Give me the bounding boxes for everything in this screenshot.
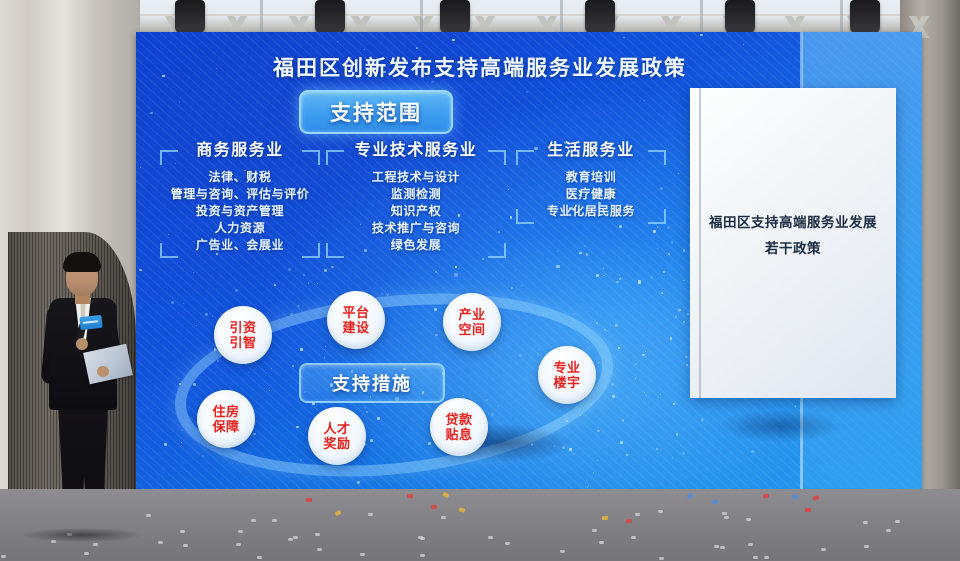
confetti-piece: [763, 494, 770, 499]
particle: [676, 433, 679, 436]
measure-bubble-line1: 平台: [342, 305, 369, 320]
particle: [183, 303, 184, 304]
particle: [685, 356, 687, 358]
floor-speck: [821, 548, 826, 551]
particle: [671, 241, 673, 243]
floor-speck: [560, 550, 565, 553]
scope-column-2: 专业技术服务业工程技术与设计监测检测知识产权技术推广与咨询绿色发展: [326, 136, 506, 254]
measure-bubble-1: 引资引智: [214, 306, 272, 364]
particle: [675, 316, 677, 318]
particle: [657, 226, 658, 227]
particle: [622, 419, 624, 421]
floor-speck: [592, 529, 597, 532]
floor-speck: [895, 520, 900, 523]
particle: [656, 448, 658, 450]
confetti-piece: [813, 495, 820, 501]
scope-item: 工程技术与设计: [326, 169, 506, 186]
stage-light-1: [175, 0, 205, 34]
particle: [642, 354, 645, 357]
particle: [751, 450, 754, 453]
particle: [678, 309, 681, 312]
scope-item: 知识产权: [326, 203, 506, 220]
support-scope-pill: 支持范围: [299, 90, 453, 134]
particle: [657, 248, 658, 249]
particle: [274, 284, 276, 286]
particle: [572, 453, 574, 455]
policy-document-title-line1: 福田区支持高端服务业发展: [704, 210, 882, 236]
particle: [416, 47, 418, 49]
scope-column-items: 法律、财税管理与咨询、评估与评价投资与资产管理人力资源广告业、会展业: [160, 169, 320, 254]
floor-speck: [84, 552, 89, 555]
particle: [521, 285, 522, 286]
particle: [660, 394, 661, 395]
particle: [644, 100, 646, 102]
measure-bubble-line2: 保障: [212, 419, 239, 434]
floor-confetti: [0, 489, 960, 561]
floor-speck: [488, 536, 493, 539]
floor-speck: [315, 533, 320, 536]
support-scope-label: 支持范围: [330, 97, 422, 127]
scope-column-title: 商务服务业: [160, 136, 320, 160]
particle: [587, 486, 588, 487]
scope-column-title: 生活服务业: [516, 136, 666, 160]
particle: [623, 37, 625, 39]
floor-speck: [146, 514, 151, 517]
stage-light-3: [440, 0, 470, 34]
particle: [700, 34, 703, 37]
measure-bubble-line2: 空间: [458, 322, 485, 337]
floor-speck: [360, 553, 365, 556]
particle: [597, 460, 598, 461]
support-measures-label: 支持措施: [332, 370, 412, 396]
particle: [638, 280, 641, 283]
measure-bubble-line2: 引智: [229, 335, 256, 350]
particle: [619, 278, 621, 280]
particle: [661, 292, 663, 294]
measure-bubble-line1: 住房: [212, 404, 239, 419]
confetti-piece: [792, 494, 799, 500]
measure-bubble-2: 平台建设: [327, 291, 385, 349]
particle: [604, 329, 607, 332]
particle: [364, 49, 365, 50]
scope-column-title: 专业技术服务业: [326, 136, 506, 160]
particle: [202, 455, 204, 457]
floor-speck: [158, 541, 163, 544]
floor-speck: [753, 556, 758, 559]
particle: [678, 173, 679, 174]
particle: [667, 226, 670, 229]
particle: [615, 324, 617, 326]
particle: [603, 275, 605, 277]
confetti-piece: [687, 492, 694, 499]
particle: [235, 289, 238, 292]
measure-bubble-line2: 贴息: [445, 427, 472, 442]
floor-speck: [659, 557, 664, 560]
particle: [680, 445, 681, 446]
particle: [620, 441, 623, 444]
particle: [618, 347, 620, 349]
confetti-piece: [626, 518, 632, 523]
measure-bubble-6: 人才奖励: [308, 407, 366, 465]
floor-speck: [441, 516, 446, 519]
particle: [212, 316, 213, 317]
floor-speck: [748, 543, 753, 546]
scope-item: 监测检测: [326, 186, 506, 203]
particle: [672, 457, 674, 459]
particle: [683, 249, 686, 252]
floor-speck: [288, 538, 293, 541]
floor-speck: [272, 519, 277, 522]
particle: [619, 274, 620, 275]
particle: [795, 406, 796, 407]
floor-speck: [183, 544, 188, 547]
particle: [668, 253, 670, 255]
measure-bubble-line2: 奖励: [323, 436, 350, 451]
measure-bubble-line1: 贷款: [445, 412, 472, 427]
scope-column-items: 工程技术与设计监测检测知识产权技术推广与咨询绿色发展: [326, 169, 506, 254]
confetti-piece: [459, 507, 466, 513]
particle: [686, 364, 688, 366]
support-measures-label-box: 支持措施: [299, 363, 445, 403]
floor-speck: [93, 543, 98, 546]
policy-document-board: 福田区支持高端服务业发展 若干政策: [690, 88, 896, 398]
floor-speck: [251, 519, 256, 522]
particle: [573, 313, 575, 315]
particle: [597, 430, 600, 433]
floor-speck: [236, 543, 241, 546]
scope-column-items: 教育培训医疗健康专业化居民服务: [516, 169, 666, 220]
scope-item: 绿色发展: [326, 237, 506, 254]
particle: [511, 287, 513, 289]
measure-bubble-7: 住房保障: [197, 390, 255, 448]
particle: [308, 282, 309, 283]
particle: [635, 378, 637, 380]
document-spine: [699, 88, 701, 398]
particle: [596, 322, 598, 324]
floor-speck: [764, 556, 769, 559]
scope-item: 管理与咨询、评估与评价: [160, 186, 320, 203]
microphone-flag: [79, 315, 102, 330]
floor-speck: [722, 512, 727, 515]
measure-bubble-line1: 产业: [458, 307, 485, 322]
floor-speck: [293, 536, 298, 539]
measure-bubble-line2: 建设: [342, 320, 369, 335]
particle: [526, 91, 528, 93]
particle: [161, 415, 162, 416]
particle: [179, 101, 181, 103]
scope-column-3: 生活服务业教育培训医疗健康专业化居民服务: [516, 136, 666, 220]
particle: [701, 418, 704, 421]
speaker-hair: [63, 252, 101, 272]
particle: [670, 337, 672, 339]
measure-bubble-4: 专业楼宇: [538, 346, 596, 404]
particle: [626, 454, 628, 456]
particle: [569, 448, 572, 451]
particle: [611, 383, 614, 386]
particle: [673, 403, 675, 405]
confetti-piece: [805, 508, 811, 512]
floor-speck: [257, 556, 262, 559]
backdrop-headline: 福田区创新发布支持高端服务业发展政策: [0, 52, 960, 82]
particle: [298, 305, 299, 306]
measure-bubble-5: 贷款贴息: [430, 398, 488, 456]
backdrop-shadow-right: [720, 410, 840, 442]
measure-bubble-line2: 楼宇: [553, 375, 580, 390]
floor-speck: [1, 555, 6, 558]
particle: [181, 442, 182, 443]
confetti-piece: [334, 510, 341, 516]
stage-light-5: [725, 0, 755, 34]
scope-item: 技术推广与咨询: [326, 220, 506, 237]
measure-bubble-line1: 专业: [553, 360, 580, 375]
floor-speck: [238, 530, 243, 533]
stage-light-2: [315, 0, 345, 34]
scope-item: 投资与资产管理: [160, 203, 320, 220]
floor-speck: [420, 554, 425, 557]
stage-scene: 福田区创新发布支持高端服务业发展政策 支持范围 商务服务业法律、财税管理与咨询、…: [0, 0, 960, 561]
particle: [644, 392, 645, 393]
confetti-piece: [711, 499, 718, 505]
particle: [452, 39, 455, 42]
confetti-piece: [431, 505, 438, 510]
particle: [164, 443, 167, 446]
speaker-floor-shadow: [22, 528, 142, 542]
floor-speck: [317, 548, 322, 551]
particle: [683, 321, 685, 323]
floor-speck: [599, 541, 604, 544]
particle: [619, 225, 622, 228]
floor-speck: [631, 536, 636, 539]
confetti-piece: [306, 498, 312, 502]
confetti-piece: [442, 492, 449, 498]
particle: [743, 44, 744, 45]
particle: [635, 363, 637, 365]
scope-column-1: 商务服务业法律、财税管理与咨询、评估与评价投资与资产管理人力资源广告业、会展业: [160, 136, 320, 254]
policy-document-title: 福田区支持高端服务业发展 若干政策: [704, 210, 882, 262]
particle: [171, 301, 174, 304]
scope-item: 专业化居民服务: [516, 203, 666, 220]
scope-item: 医疗健康: [516, 186, 666, 203]
particle: [196, 325, 197, 326]
floor-speck: [746, 518, 751, 521]
particle: [205, 313, 208, 316]
particle: [593, 472, 594, 473]
floor-speck: [724, 516, 729, 519]
stage-light-6: [850, 0, 880, 34]
scope-item: 人力资源: [160, 220, 320, 237]
speaker-right-hand: [97, 366, 109, 377]
scope-item: 广告业、会展业: [160, 237, 320, 254]
measure-bubble-3: 产业空间: [443, 293, 501, 351]
particle: [181, 430, 182, 431]
floor-speck: [658, 510, 663, 513]
policy-document-title-line2: 若干政策: [704, 236, 882, 262]
particle: [650, 276, 653, 279]
floor-speck: [635, 513, 640, 516]
floor-speck: [864, 545, 869, 548]
particle: [663, 271, 665, 273]
floor-speck: [368, 513, 373, 516]
particle: [150, 112, 153, 115]
particle: [357, 481, 360, 484]
particle: [612, 395, 615, 398]
particle: [596, 274, 599, 277]
measure-bubble-line1: 引资: [229, 320, 256, 335]
measure-bubble-line1: 人才: [323, 421, 350, 436]
particle: [337, 41, 338, 42]
speaker-left-hand: [76, 338, 88, 350]
floor-speck: [418, 536, 423, 539]
particle: [683, 280, 685, 282]
stage-light-4: [585, 0, 615, 34]
particle: [381, 293, 382, 294]
particle: [653, 230, 656, 233]
particle: [603, 268, 604, 269]
particle: [616, 281, 618, 283]
floor-speck: [863, 521, 868, 524]
floor-speck: [714, 545, 719, 548]
particle: [682, 452, 685, 455]
scope-item: 教育培训: [516, 169, 666, 186]
floor-speck: [886, 529, 891, 532]
floor-speck: [180, 530, 185, 533]
floor-speck: [505, 542, 510, 545]
particle: [232, 463, 233, 464]
confetti-piece: [407, 494, 413, 498]
confetti-piece: [602, 516, 608, 520]
floor-speck: [720, 546, 725, 549]
particle: [317, 283, 318, 284]
scope-item: 法律、财税: [160, 169, 320, 186]
particle: [645, 351, 646, 352]
